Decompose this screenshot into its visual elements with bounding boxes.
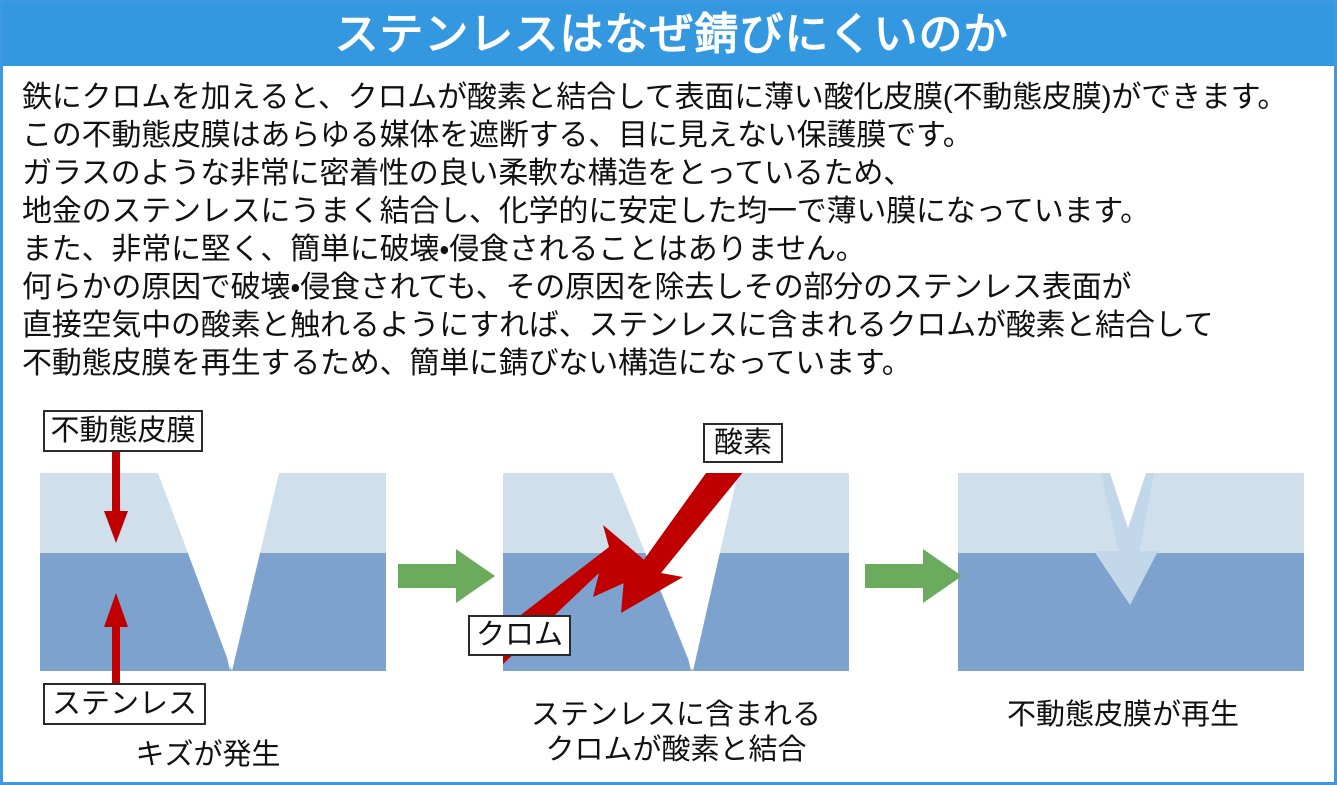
step-arrow-right-2-icon xyxy=(865,548,963,604)
body-text-block: 鉄にクロムを加えると、クロムが酸素と結合して表面に薄い酸化皮膜(不動態皮膜)がで… xyxy=(22,79,1322,383)
body-line: この不動態皮膜はあらゆる媒体を遮断する、目に見えない保護膜です。 xyxy=(22,117,1322,155)
header-bar: ステンレスはなぜ錆びにくいのか xyxy=(3,3,1337,66)
label-chromium: クロム xyxy=(468,615,571,656)
body-line: 不動態皮膜を再生するため、簡単に錆びない構造になっています。 xyxy=(22,345,1322,383)
label-passive-film: 不動態皮膜 xyxy=(43,410,203,452)
step-arrow-right-1-icon xyxy=(398,548,496,604)
label-stainless: ステンレス xyxy=(43,683,206,725)
panel-regenerated xyxy=(958,473,1304,671)
caption-regenerated: 不動態皮膜が再生 xyxy=(953,698,1293,733)
process-diagram: 不動態皮膜 ステンレス キズが発生 xyxy=(3,393,1337,785)
body-line: ガラスのような非常に密着性の良い柔軟な構造をとっているため、 xyxy=(22,155,1322,193)
label-oxygen-text: 酸素 xyxy=(714,429,772,458)
infographic-page: ステンレスはなぜ錆びにくいのか 鉄にクロムを加えると、クロムが酸素と結合して表面… xyxy=(0,0,1337,785)
body-line: 地金のステンレスにうまく結合し、化学的に安定した均一で薄い膜になっています。 xyxy=(22,193,1322,231)
label-stainless-text: ステンレス xyxy=(52,690,197,719)
arrow-down-to-film-icon xyxy=(103,443,129,545)
body-line: 鉄にクロムを加えると、クロムが酸素と結合して表面に薄い酸化皮膜(不動態皮膜)がで… xyxy=(22,79,1322,117)
label-passive-film-text: 不動態皮膜 xyxy=(50,417,195,446)
label-chromium-text: クロム xyxy=(476,621,563,650)
page-title: ステンレスはなぜ錆びにくいのか xyxy=(334,13,1008,57)
body-line: また、非常に堅く、簡単に破壊・侵食されることはありません。 xyxy=(22,231,1322,269)
scratch-cross-section xyxy=(40,473,386,671)
body-line: 何らかの原因で破壊・侵食されても、その原因を除去しその部分のステンレス表面が xyxy=(22,269,1322,307)
panel-scratch xyxy=(40,473,386,671)
label-oxygen: 酸素 xyxy=(703,423,783,463)
caption-bonding: ステンレスに含まれる クロムが酸素と結合 xyxy=(506,698,846,768)
regenerated-cross-section xyxy=(958,473,1304,671)
body-line: 直接空気中の酸素と触れるようにすれば、ステンレスに含まれるクロムが酸素と結合して xyxy=(22,307,1322,345)
caption-scratch: キズが発生 xyxy=(43,738,373,773)
